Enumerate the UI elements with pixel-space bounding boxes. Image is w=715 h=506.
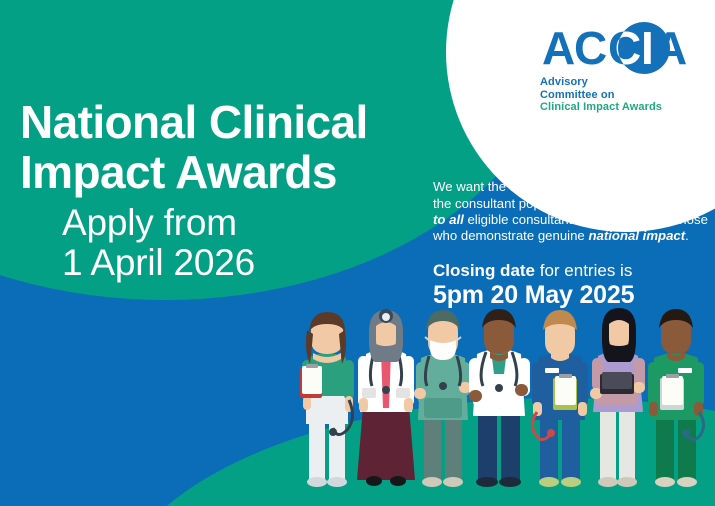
closing-date-label: Closing date: [433, 261, 535, 280]
closing-date-value: 5pm 20 May 2025: [433, 281, 708, 310]
accia-wordmark-icon: A C C I A C I A: [540, 22, 700, 74]
accia-logo: A C C I A C I A Advisory Committee on: [540, 22, 700, 114]
blurb-emphasis-national-impact: national impact: [588, 228, 685, 243]
svg-text:I: I: [641, 22, 654, 74]
headline-line2: Impact Awards: [20, 147, 440, 197]
closing-date-label-line: Closing date for entries is: [433, 260, 708, 281]
person-nurse-navy-clipboard: [532, 310, 588, 487]
poster-canvas: A C C I A C I A Advisory Committee on: [0, 0, 715, 506]
apply-line2: 1 April 2026: [62, 243, 402, 283]
blurb-emphasis-diversity: diversity: [632, 179, 686, 194]
logo-subtitle-line3: Clinical Impact Awards: [540, 101, 700, 114]
page-title: National Clinical Impact Awards: [20, 97, 440, 197]
logo-subtitle-line2: Committee on: [540, 89, 700, 102]
headline-line1: National Clinical: [20, 97, 440, 147]
svg-text:C: C: [574, 22, 607, 74]
person-doctor-whitecoat-stethoscope: [469, 309, 530, 487]
accia-logo-subtitle: Advisory Committee on Clinical Impact Aw…: [540, 76, 700, 114]
blurb-part1: We want the awards to reflect the: [433, 179, 632, 194]
blurb-part4: .: [685, 228, 689, 243]
person-doctor-hijab-whitecoat: [357, 309, 415, 486]
logo-subtitle-line1: Advisory: [540, 76, 700, 89]
person-nurse-teal-clipboard: [300, 312, 354, 487]
closing-date-label-suffix: for entries is: [535, 261, 632, 280]
closing-date-block: Closing date for entries is 5pm 20 May 2…: [433, 260, 708, 310]
scheme-description: We want the awards to reflect the divers…: [433, 179, 708, 245]
apply-line1: Apply from: [62, 203, 402, 243]
person-clinician-lilac-hijab: [590, 308, 645, 487]
apply-from-text: Apply from 1 April 2026: [62, 203, 402, 283]
person-nurse-masked-arms-crossed: [414, 310, 471, 487]
svg-text:A: A: [542, 22, 575, 74]
person-nurse-green-clipboard: [648, 309, 704, 487]
